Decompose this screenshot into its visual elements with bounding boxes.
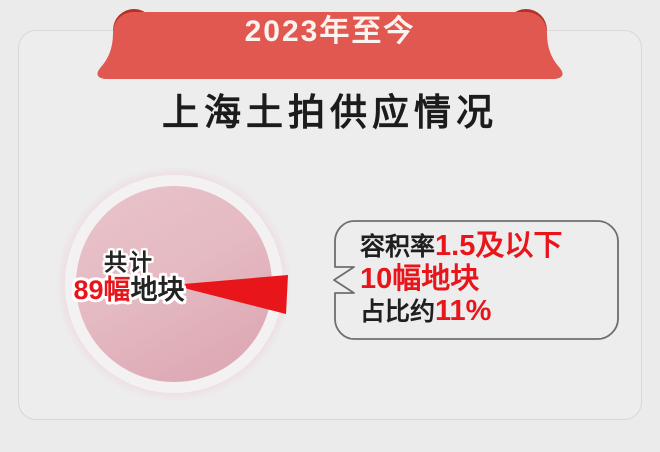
- callout-line-3-prefix: 占比约: [360, 298, 435, 326]
- callout-line-1-value: 1.5及以下: [435, 230, 562, 262]
- callout-line-1: 容积率1.5及以下: [360, 230, 612, 263]
- callout-line-2-value: 10幅地块: [360, 263, 479, 295]
- ribbon-fold-right-icon: [505, 9, 547, 31]
- ribbon-fold-left-icon: [113, 9, 155, 31]
- callout-line-3-value: 11%: [435, 295, 491, 327]
- callout-content: 容积率1.5及以下 10幅地块 占比约11%: [360, 230, 612, 328]
- callout-line-1-prefix: 容积率: [360, 233, 435, 261]
- pie-chart-svg: [48, 158, 318, 416]
- page-title: 上海土拍供应情况: [0, 88, 660, 138]
- callout-line-3: 占比约11%: [360, 295, 612, 328]
- pie-chart: 共计 89幅地块: [48, 158, 318, 416]
- callout-bubble: 容积率1.5及以下 10幅地块 占比约11%: [332, 219, 620, 341]
- callout-line-2: 10幅地块: [360, 263, 612, 295]
